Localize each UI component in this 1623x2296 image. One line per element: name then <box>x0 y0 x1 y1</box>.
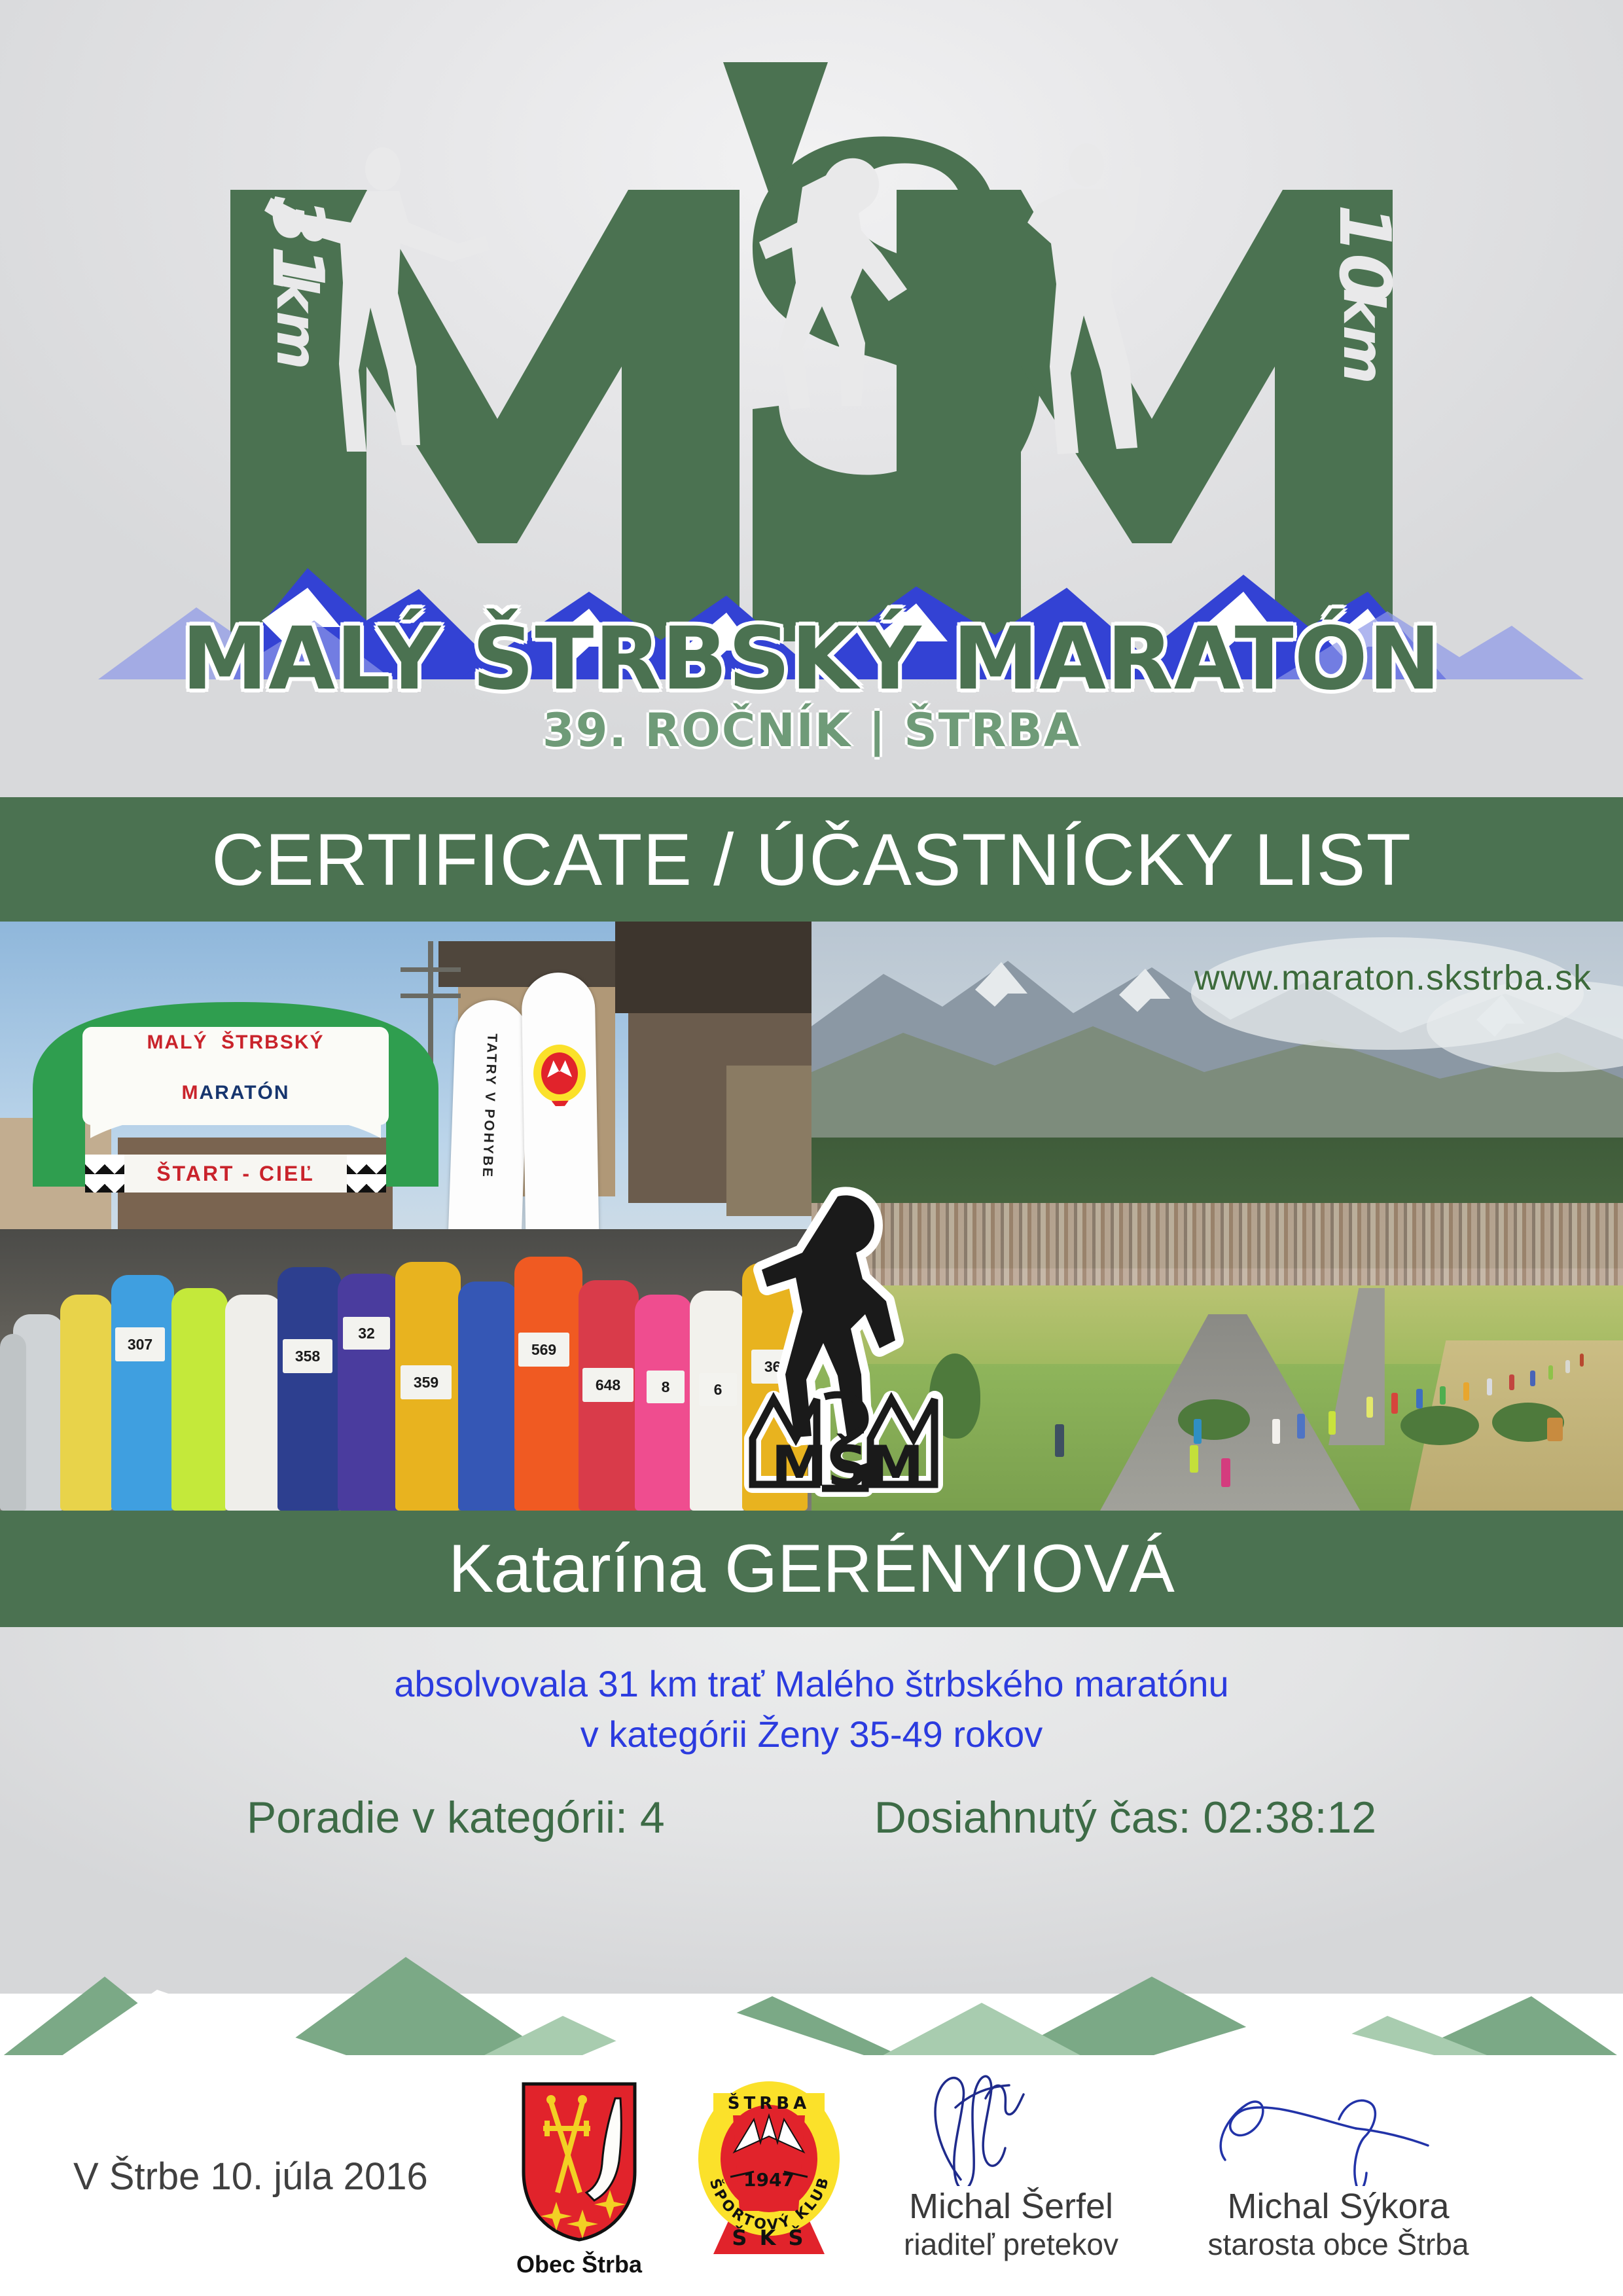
finish-time-value: 02:38:12 <box>1203 1793 1376 1842</box>
sks-club-logo: ŠTRBA 1947 ŠPORTOVÝ KLUB Š K Š <box>694 2073 857 2260</box>
signatory-role: starosta obce Štrba <box>1185 2227 1492 2262</box>
msm-wordmark-logo: 31 km 10 km <box>0 0 1623 641</box>
obec-strba-crest: Obec Štrba <box>504 2080 654 2278</box>
place-and-date: V Štrbe 10. júla 2016 <box>73 2155 428 2198</box>
msm-emblem-text: MŠM <box>771 1433 923 1499</box>
signature-ink-mayor <box>1185 2068 1492 2186</box>
participant-name-band: Katarína GERÉNYIOVÁ <box>0 1511 1623 1627</box>
event-subtitle: 39. ROČNÍK | ŠTRBA <box>0 704 1623 757</box>
hero-header: 31 km 10 km <box>0 0 1623 797</box>
flag-label-tatry: TATRY V POHYBE <box>479 1033 500 1179</box>
runner-crowd: 307 358 32 359 569 648 8 6 360 <box>0 1229 811 1511</box>
signatory-name: Michal Sýkora <box>1185 2186 1492 2227</box>
event-title: MALÝ ŠTRBSKÝ MARATÓN <box>0 609 1623 709</box>
finish-time-label: Dosiahnutý čas: <box>874 1793 1191 1842</box>
start-finish-text: ŠTART - CIEĽ <box>156 1162 315 1186</box>
checker-left <box>85 1155 124 1193</box>
description-line-2: v kategórii Ženy 35-49 rokov <box>0 1709 1623 1759</box>
runner-bib: 648 <box>582 1368 633 1402</box>
signature-block-mayor: Michal Sýkora starosta obce Štrba <box>1185 2068 1492 2262</box>
runner-bib: 32 <box>343 1317 390 1350</box>
crest-caption: Obec Štrba <box>504 2251 654 2278</box>
sponsor-flag-strba <box>521 972 599 1248</box>
description-line-1: absolvovala 31 km trať Malého štrbského … <box>0 1659 1623 1709</box>
runner-bib: 358 <box>283 1339 332 1373</box>
participant-name: Katarína GERÉNYIOVÁ <box>448 1530 1175 1608</box>
signatory-role: riaditeľ pretekov <box>857 2227 1165 2262</box>
runner-bib: 359 <box>401 1365 452 1399</box>
checker-right <box>347 1155 386 1193</box>
result-row: Poradie v kategórii: 4 Dosiahnutý čas: 0… <box>0 1792 1623 1843</box>
runner-bib: 8 <box>647 1371 685 1403</box>
arch-text-line1: MALÝ ŠTRBSKÝ <box>98 1031 373 1054</box>
certificate-title: CERTIFICATE / ÚČASTNÍCKY LIST <box>211 817 1412 902</box>
runner-bib: 307 <box>115 1327 165 1361</box>
svg-text:km: km <box>264 274 329 370</box>
website-url[interactable]: www.maraton.skstrba.sk <box>1194 958 1592 998</box>
signatory-name: Michal Šerfel <box>857 2186 1165 2227</box>
start-finish-banner: ŠTART - CIEĽ <box>85 1155 386 1193</box>
photo-strip: MALÝ ŠTRBSKÝ MARATÓN ŠTART - CIEĽ TATRY … <box>0 922 1623 1511</box>
category-rank-value: 4 <box>640 1793 665 1842</box>
signature-block-director: Michal Šerfel riaditeľ pretekov <box>857 2068 1165 2262</box>
runner-bib: 6 <box>699 1373 737 1406</box>
certificate-title-band: CERTIFICATE / ÚČASTNÍCKY LIST <box>0 797 1623 922</box>
msm-runner-emblem: MŠM <box>740 1177 955 1504</box>
start-line-photo: MALÝ ŠTRBSKÝ MARATÓN ŠTART - CIEĽ TATRY … <box>0 922 811 1511</box>
runner-bib: 569 <box>518 1333 569 1367</box>
svg-text:km: km <box>1330 288 1396 384</box>
arch-text-line2: MARATÓN <box>98 1082 373 1104</box>
sks-top-text: ŠTRBA <box>728 2092 810 2113</box>
achievement-description: absolvovala 31 km trať Malého štrbského … <box>0 1659 1623 1760</box>
category-rank-label: Poradie v kategórii: <box>247 1793 628 1842</box>
category-rank: Poradie v kategórii: 4 <box>247 1792 665 1843</box>
finish-time: Dosiahnutý čas: 02:38:12 <box>874 1792 1376 1843</box>
signature-ink-director <box>857 2068 1165 2186</box>
sks-bottom-text: Š K Š <box>732 2225 806 2250</box>
certificate-footer: V Štrbe 10. júla 2016 Obec Štrba <box>0 2055 1623 2296</box>
